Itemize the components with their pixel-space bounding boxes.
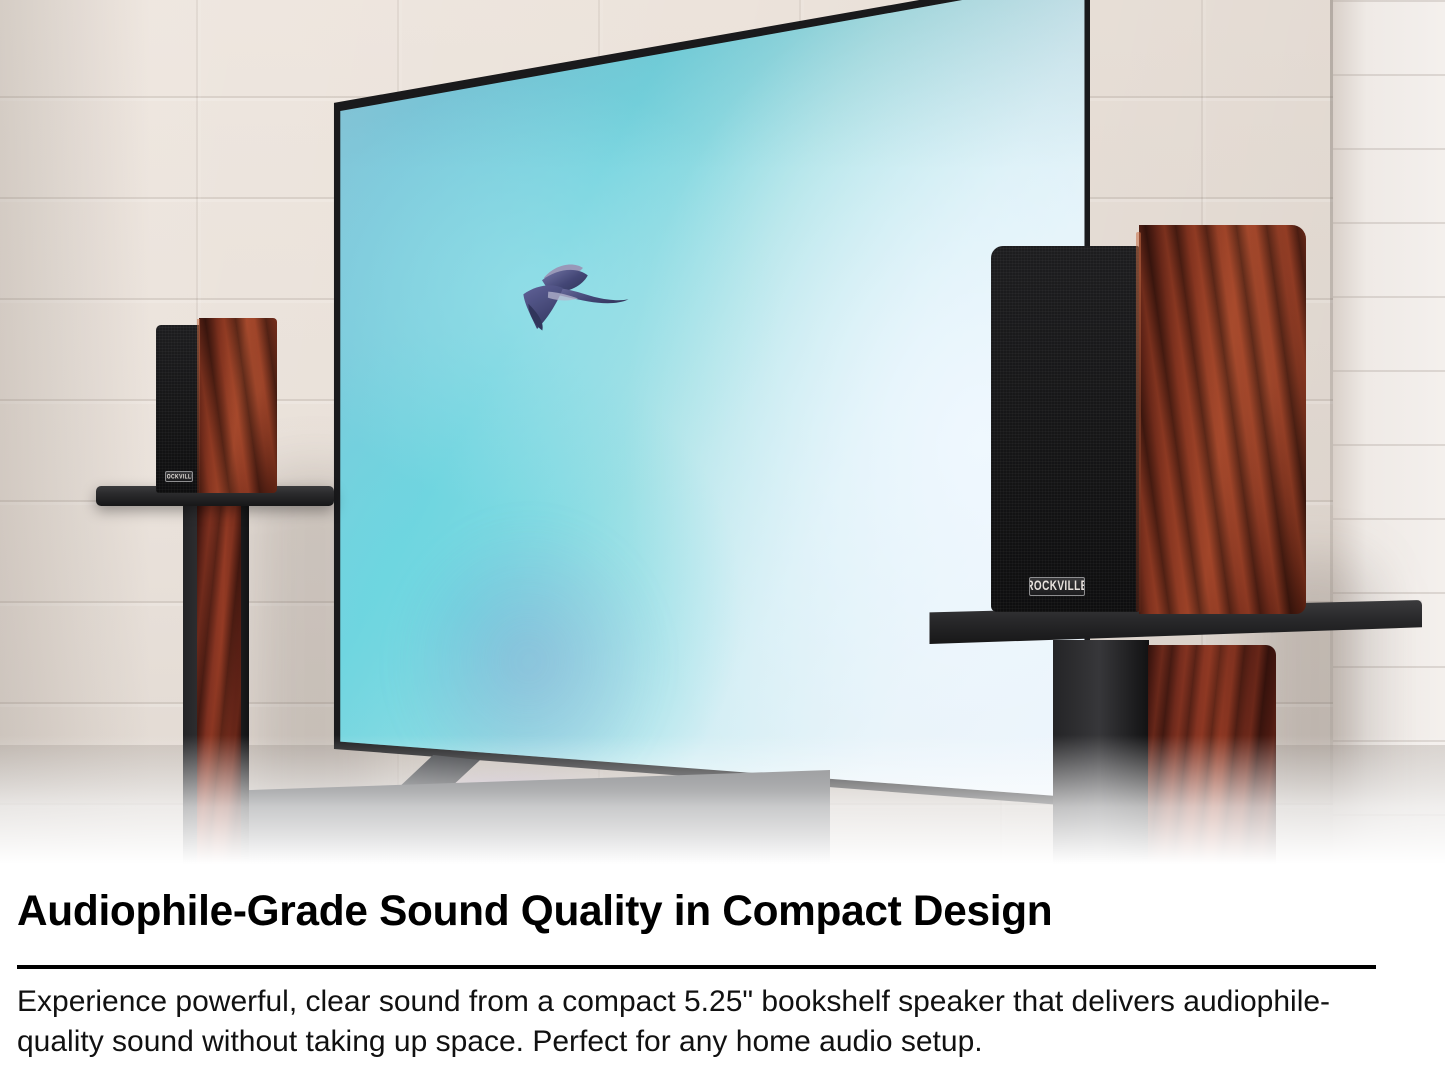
left-speaker-brand-badge: ROCKVILLE <box>165 471 193 482</box>
divider-rule <box>17 965 1376 969</box>
right-speaker-brand-badge[interactable]: ROCKVILLE <box>1029 577 1085 596</box>
caption-block: Audiophile-Grade Sound Quality in Compac… <box>0 885 1445 1083</box>
right-speaker-grille <box>991 246 1139 612</box>
product-photo: ROCKVILLE ROCKVILLE <box>0 0 1445 885</box>
left-speaker-wood-panel <box>199 318 277 493</box>
headline: Audiophile-Grade Sound Quality in Compac… <box>17 885 1396 937</box>
left-speaker-edge <box>197 319 200 493</box>
product-marketing-image: ROCKVILLE ROCKVILLE Audiophile-Grade Sou… <box>0 0 1445 1083</box>
right-speaker-front-edge <box>1136 232 1141 612</box>
right-stand-wood-panel <box>1148 645 1276 885</box>
left-speaker-grille <box>156 325 200 493</box>
right-speaker-brand-text: ROCKVILLE <box>1029 579 1085 594</box>
right-speaker-wood-panel <box>1139 225 1306 614</box>
television <box>300 0 1090 880</box>
bird-icon <box>489 241 639 355</box>
right-stand-column <box>1053 640 1149 885</box>
left-speaker-brand-text: ROCKVILLE <box>165 472 193 480</box>
body-text: Experience powerful, clear sound from a … <box>17 982 1337 1062</box>
left-stand-wood-panel <box>197 500 241 885</box>
